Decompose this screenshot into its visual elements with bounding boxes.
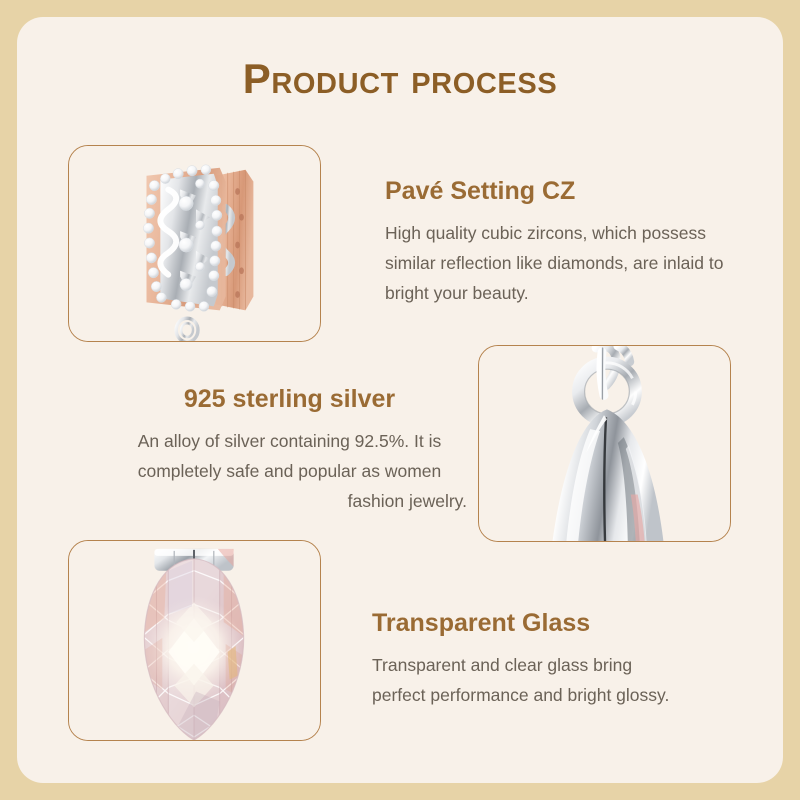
transparent-glass-drop-photo	[69, 541, 320, 740]
section-body-line-1: Transparent and clear glass bring	[372, 655, 632, 675]
product-image-frame-pave-cz	[68, 145, 321, 342]
content-panel: Product process	[17, 17, 783, 783]
section-body-line-2: perfect performance and bright glossy.	[372, 685, 669, 705]
section-heading-sterling-silver: 925 sterling silver	[112, 385, 467, 414]
sterling-silver-bail-photo	[479, 346, 730, 541]
section-text-transparent-glass: Transparent Glass Transparent and clear …	[372, 609, 742, 710]
section-text-sterling-silver: 925 sterling silver An alloy of silver c…	[112, 385, 467, 516]
product-image-frame-transparent-glass	[68, 540, 321, 741]
pave-cz-charm-photo	[69, 146, 320, 341]
product-image-frame-sterling-silver	[478, 345, 731, 542]
section-body-line-3: fashion jewelry.	[112, 486, 467, 516]
page-title: Product process	[17, 55, 783, 103]
infographic-page: Product process	[0, 0, 800, 800]
section-body-line-2: completely safe and popular as women	[138, 461, 442, 481]
section-body-line-1: An alloy of silver containing 92.5%. It …	[138, 431, 442, 451]
section-body-transparent-glass: Transparent and clear glass bring perfec…	[372, 650, 742, 710]
section-body-pave-cz: High quality cubic zircons, which posses…	[385, 218, 737, 308]
section-text-pave-cz: Pavé Setting CZ High quality cubic zirco…	[385, 177, 737, 308]
section-heading-transparent-glass: Transparent Glass	[372, 609, 742, 638]
section-body-sterling-silver: An alloy of silver containing 92.5%. It …	[112, 426, 467, 516]
section-heading-pave-cz: Pavé Setting CZ	[385, 177, 737, 206]
